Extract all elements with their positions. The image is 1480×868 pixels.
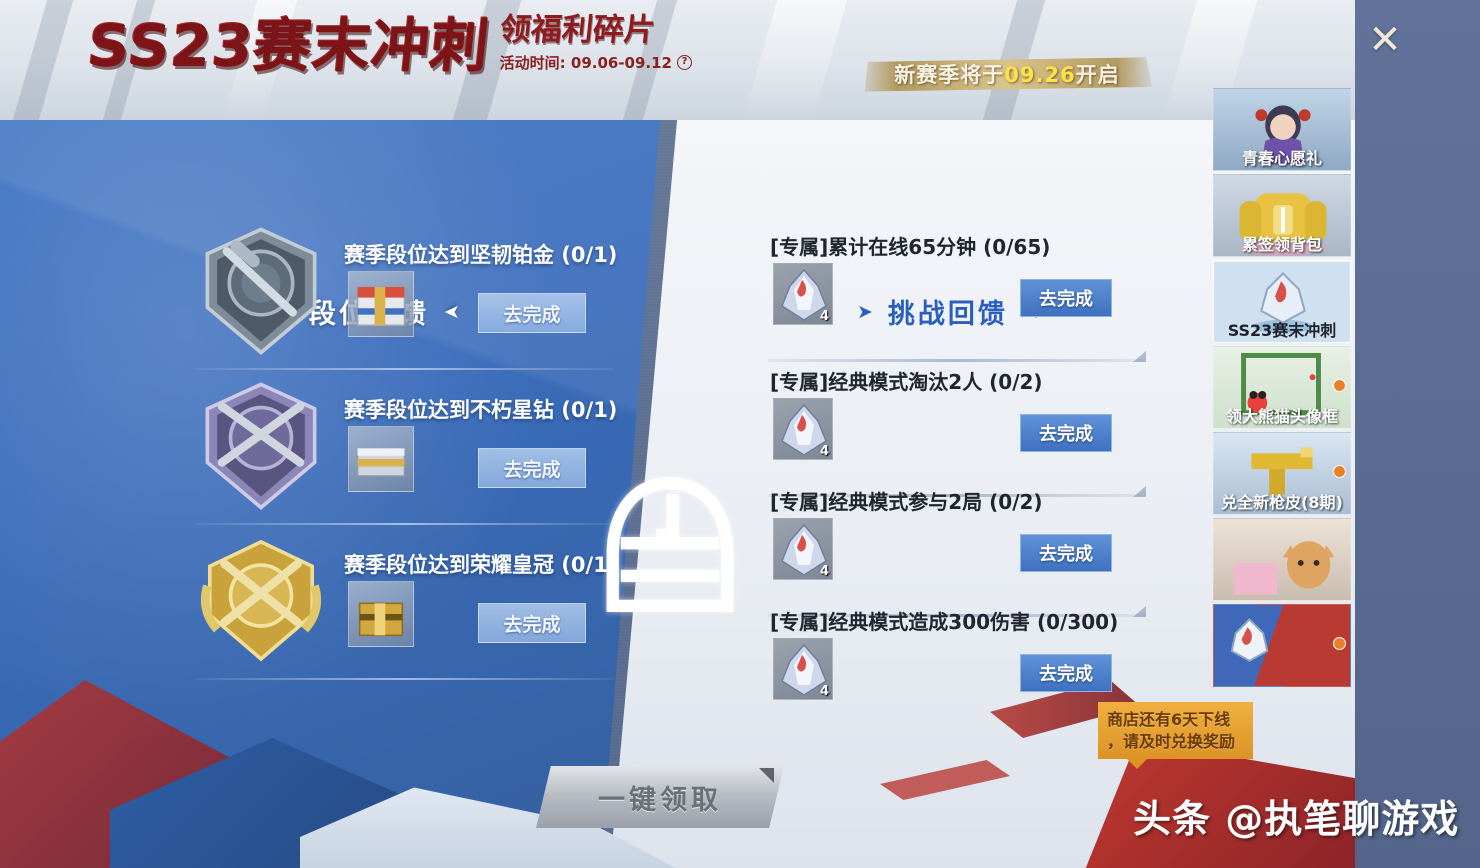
- crown-rank-medal-icon: [200, 537, 322, 665]
- challenge-row: [专属]经典模式造成300伤害 (0/300) 4 去完成: [768, 600, 1146, 737]
- activity-screen: SS23赛末冲刺 领福利碎片 活动时间: 09.06-09.12 ? 新赛季将于…: [0, 0, 1480, 868]
- challenge-reward-box[interactable]: 4: [773, 263, 833, 325]
- reward-item-box[interactable]: [348, 426, 414, 492]
- activity-card[interactable]: 领大熊猫头像框: [1213, 346, 1351, 429]
- activity-card-label: [1214, 660, 1350, 686]
- shop-expiry-tooltip: 商店还有6天下线 ，请及时兑换奖励: [1098, 702, 1253, 759]
- vertical-tab-strip: [1355, 0, 1480, 868]
- challenge-reward-box[interactable]: 4: [773, 638, 833, 700]
- page-subtitle: 领福利碎片: [498, 14, 694, 47]
- rank-row-text: 赛季段位达到不朽星钻 (0/1): [344, 394, 617, 424]
- helmet-icon: [600, 475, 740, 625]
- activity-card-label: 累签领背包: [1214, 230, 1350, 256]
- header-banner: SS23赛末冲刺 领福利碎片 活动时间: 09.06-09.12 ? 新赛季将于…: [0, 0, 1355, 120]
- activity-card-label: [1214, 574, 1350, 600]
- rank-reward-row: 赛季段位达到不朽星钻 (0/1) 去完成: [196, 370, 626, 525]
- go-complete-button[interactable]: 去完成: [1020, 279, 1112, 317]
- rank-reward-row: 赛季段位达到坚韧铂金 (0/1) 去完成: [196, 215, 626, 370]
- rank-row-text: 赛季段位达到荣耀皇冠 (0/1): [344, 549, 617, 579]
- challenge-row-text: [专属]经典模式淘汰2人 (0/2): [770, 366, 1043, 395]
- activity-card-label: 领大熊猫头像框: [1214, 402, 1350, 428]
- rank-reward-row: 赛季段位达到荣耀皇冠 (0/1) 去完成: [196, 525, 626, 680]
- go-complete-button[interactable]: 去完成: [478, 603, 586, 643]
- event-time-row: 活动时间: 09.06-09.12 ?: [500, 52, 692, 73]
- activity-card[interactable]: [1213, 518, 1351, 601]
- platinum-rank-medal-icon: [200, 227, 322, 355]
- title-block: SS23赛末冲刺 领福利碎片 活动时间: 09.06-09.12 ?: [88, 14, 692, 75]
- event-time-text: 活动时间: 09.06-09.12: [500, 52, 672, 73]
- watermark: 头条 @执笔聊游戏: [1133, 788, 1459, 843]
- activity-card-dot: [1333, 465, 1346, 478]
- supply-crate-gold-icon: [349, 582, 413, 646]
- page-title: SS23赛末冲刺: [85, 17, 493, 75]
- challenge-row: [专属]经典模式参与2局 (0/2) 4 去完成: [768, 480, 1146, 617]
- challenge-row-text: [专属]经典模式参与2局 (0/2): [770, 486, 1043, 515]
- activity-card-dot: [1333, 637, 1346, 650]
- row-divider: [196, 678, 614, 680]
- new-season-suffix: 开启: [1076, 63, 1120, 87]
- reward-qty: 4: [820, 564, 829, 579]
- activity-card-label: 兑全新枪皮(8期): [1214, 488, 1350, 514]
- supply-crate-platinum-icon: [349, 272, 413, 336]
- activity-card[interactable]: 累签领背包: [1213, 174, 1351, 257]
- reward-item-box[interactable]: [348, 271, 414, 337]
- activity-card-dot: [1333, 379, 1346, 392]
- challenge-row: [专属]经典模式淘汰2人 (0/2) 4 去完成: [768, 360, 1146, 497]
- diamond-rank-medal-icon: [200, 382, 322, 510]
- close-icon[interactable]: ✕: [1357, 12, 1413, 68]
- activity-card[interactable]: [1213, 604, 1351, 687]
- reward-qty: 4: [820, 444, 829, 459]
- activity-card-active[interactable]: SS23赛末冲刺: [1213, 260, 1351, 343]
- activity-card-label: SS23赛末冲刺: [1214, 316, 1350, 342]
- go-complete-button[interactable]: 去完成: [1020, 654, 1112, 692]
- new-season-date: 09.26: [1004, 63, 1075, 87]
- new-season-banner: 新赛季将于09.26开启: [862, 55, 1152, 93]
- reward-qty: 4: [820, 684, 829, 699]
- challenge-row-text: [专属]经典模式造成300伤害 (0/300): [770, 606, 1118, 635]
- challenge-row-text: [专属]累计在线65分钟 (0/65): [770, 231, 1050, 260]
- go-complete-button[interactable]: 去完成: [1020, 414, 1112, 452]
- activity-card[interactable]: 青春心愿礼: [1213, 88, 1351, 171]
- reward-qty: 4: [820, 309, 829, 324]
- challenge-reward-box[interactable]: 4: [773, 518, 833, 580]
- go-complete-button[interactable]: 去完成: [478, 448, 586, 488]
- supply-crate-diamond-icon: [349, 427, 413, 491]
- rank-row-text: 赛季段位达到坚韧铂金 (0/1): [344, 239, 617, 269]
- go-complete-button[interactable]: 去完成: [478, 293, 586, 333]
- claim-all-button[interactable]: 一键领取: [536, 766, 784, 828]
- shop-tip-line1: 商店还有6天下线: [1107, 709, 1244, 731]
- claim-corner-decor: [759, 768, 774, 783]
- activity-card[interactable]: 兑全新枪皮(8期): [1213, 432, 1351, 515]
- new-season-prefix: 新赛季将于: [894, 63, 1004, 87]
- shop-tip-line2: ，请及时兑换奖励: [1107, 731, 1244, 753]
- help-icon[interactable]: ?: [677, 55, 692, 70]
- activity-card-label: 青春心愿礼: [1214, 144, 1350, 170]
- challenge-reward-box[interactable]: 4: [773, 398, 833, 460]
- claim-all-label: 一键领取: [598, 778, 722, 817]
- reward-item-box[interactable]: [348, 581, 414, 647]
- challenge-row: [专属]累计在线65分钟 (0/65) 4 去完成: [768, 225, 1146, 362]
- go-complete-button[interactable]: 去完成: [1020, 534, 1112, 572]
